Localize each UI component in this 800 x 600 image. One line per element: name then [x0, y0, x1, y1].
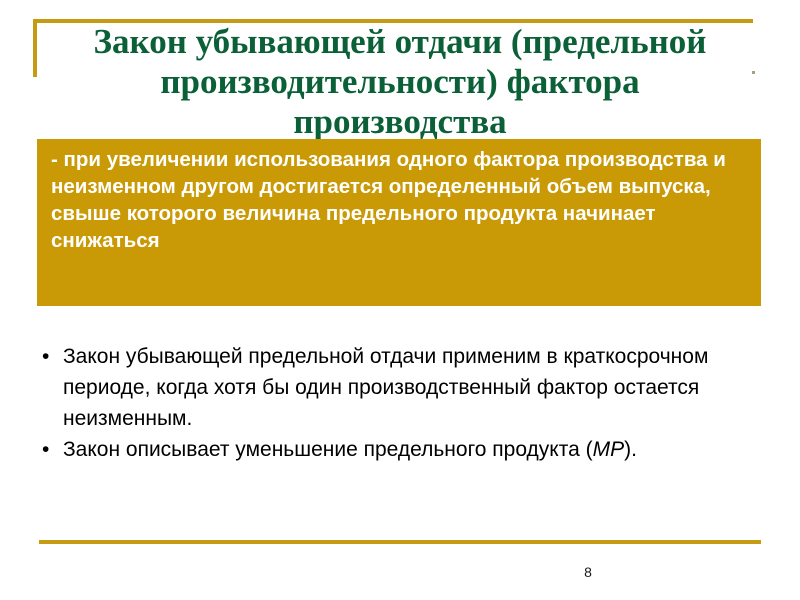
decorative-dot-icon	[752, 71, 755, 74]
list-item-text: Закон описывает уменьшение предельного п…	[60, 434, 756, 465]
list-item-text-after: ).	[624, 438, 637, 461]
bullet-marker-icon: •	[36, 341, 60, 372]
callout-text: - при увеличении использования одного фа…	[51, 146, 747, 254]
left-gold-rule	[33, 19, 37, 77]
list-item-text: Закон убывающей предельной отдачи примен…	[60, 341, 756, 434]
bottom-gold-rule	[39, 540, 761, 544]
list-item: • Закон убывающей предельной отдачи прим…	[36, 341, 756, 434]
gold-callout-box: - при увеличении использования одного фа…	[37, 139, 761, 306]
slide-title: Закон убывающей отдачи (предельной произ…	[70, 22, 730, 142]
page-number: 8	[565, 564, 611, 580]
bullet-list: • Закон убывающей предельной отдачи прим…	[36, 341, 756, 465]
list-item-emphasis: MP	[593, 438, 625, 461]
bullet-marker-icon: •	[36, 434, 60, 465]
list-item: • Закон описывает уменьшение предельного…	[36, 434, 756, 465]
slide-canvas: Закон убывающей отдачи (предельной произ…	[0, 0, 800, 600]
list-item-text-before: Закон описывает уменьшение предельного п…	[63, 438, 593, 461]
